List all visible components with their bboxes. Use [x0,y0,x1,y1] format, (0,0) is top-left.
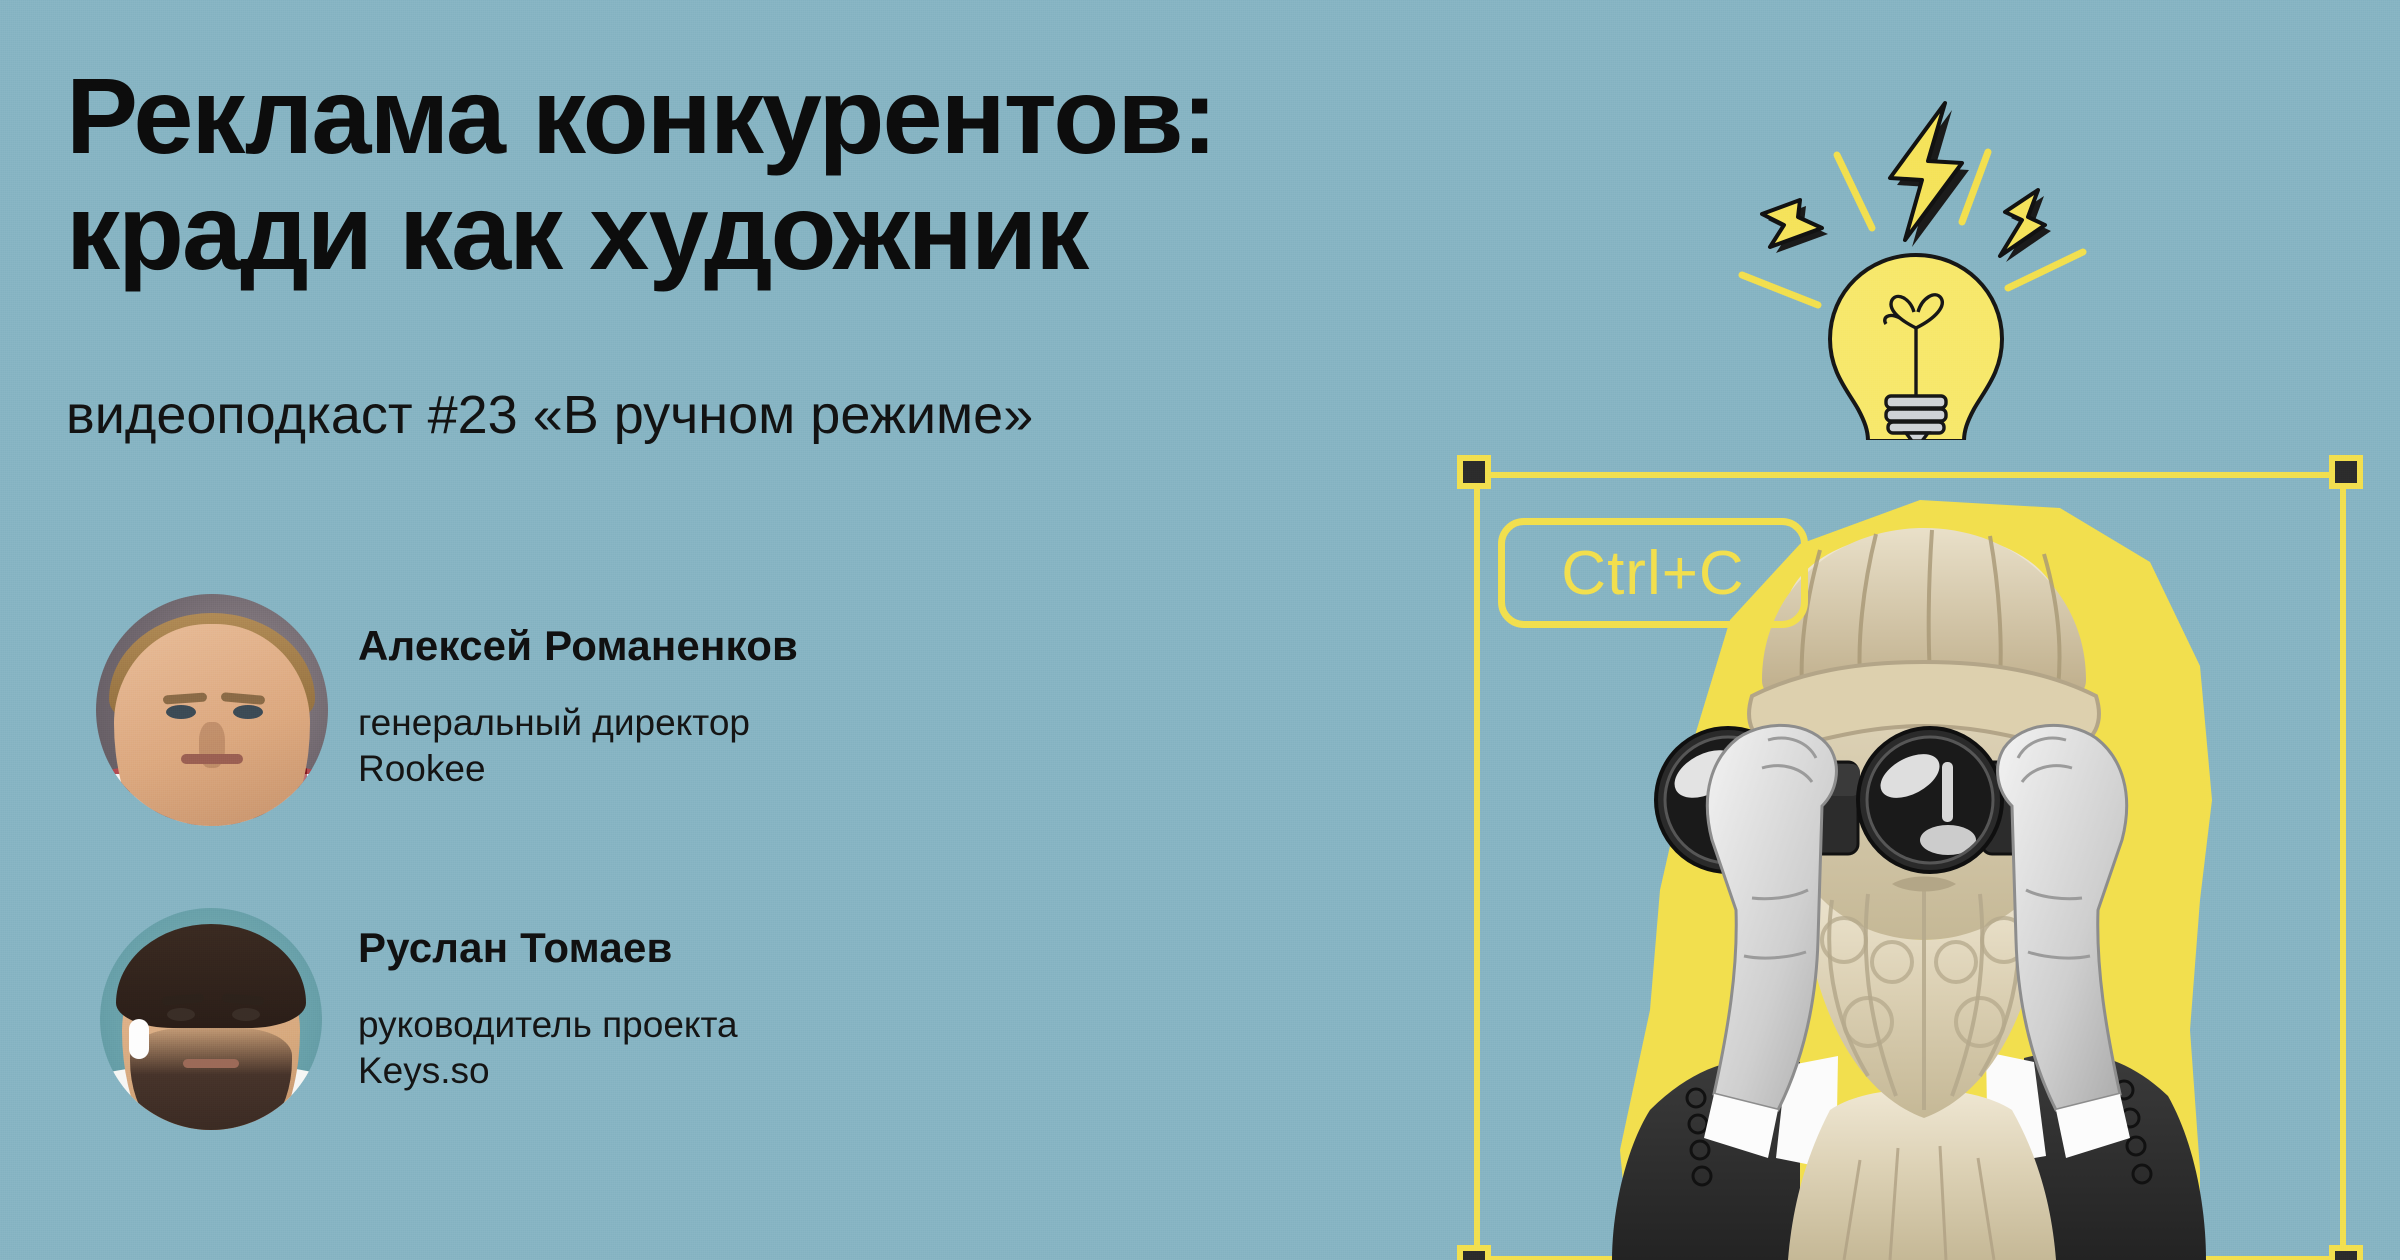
speaker-role-line-2: Rookee [358,746,798,792]
avatar [96,594,328,826]
copy-shortcut-badge[interactable]: Ctrl+C [1498,518,1808,628]
selection-frame-left-edge [1474,472,1480,1260]
speaker-name: Руслан Томаев [358,924,738,972]
speaker-text: Руслан Томаев руководитель проекта Keys.… [358,924,738,1094]
speaker-role-line-1: генеральный директор [358,700,798,746]
title-line-2: кради как художник [66,174,1486,290]
selection-handle-top-left[interactable] [1457,455,1491,489]
lightning-bolt-icon [2000,190,2051,262]
subtitle: видеоподкаст #23 «В ручном режиме» [66,384,1033,446]
selection-frame-right-edge [2340,472,2346,1260]
lightbulb-icon [1700,60,2100,440]
page-title: Реклама конкурентов: кради как художник [66,58,1486,289]
podcast-cover-canvas: Реклама конкурентов: кради как художник … [0,0,2400,1260]
list-item: Руслан Томаев руководитель проекта Keys.… [96,902,1096,1202]
list-item: Алексей Романенков генеральный директор … [96,594,1096,894]
speaker-name: Алексей Романенков [358,622,798,670]
speaker-role: генеральный директор Rookee [358,700,798,792]
speaker-text: Алексей Романенков генеральный директор … [358,622,798,792]
copy-shortcut-label: Ctrl+C [1561,538,1744,609]
speaker-role-line-1: руководитель проекта [358,1002,738,1048]
title-line-1: Реклама конкурентов: [66,58,1486,174]
speaker-role: руководитель проекта Keys.so [358,1002,738,1094]
speakers-list: Алексей Романенков генеральный директор … [96,594,1096,1202]
speaker-role-line-2: Keys.so [358,1048,738,1094]
avatar [100,908,322,1130]
selection-handle-bottom-left[interactable] [1457,1245,1491,1260]
lightning-bolt-icon [1890,103,1969,247]
lightning-bolt-icon [1762,200,1828,253]
